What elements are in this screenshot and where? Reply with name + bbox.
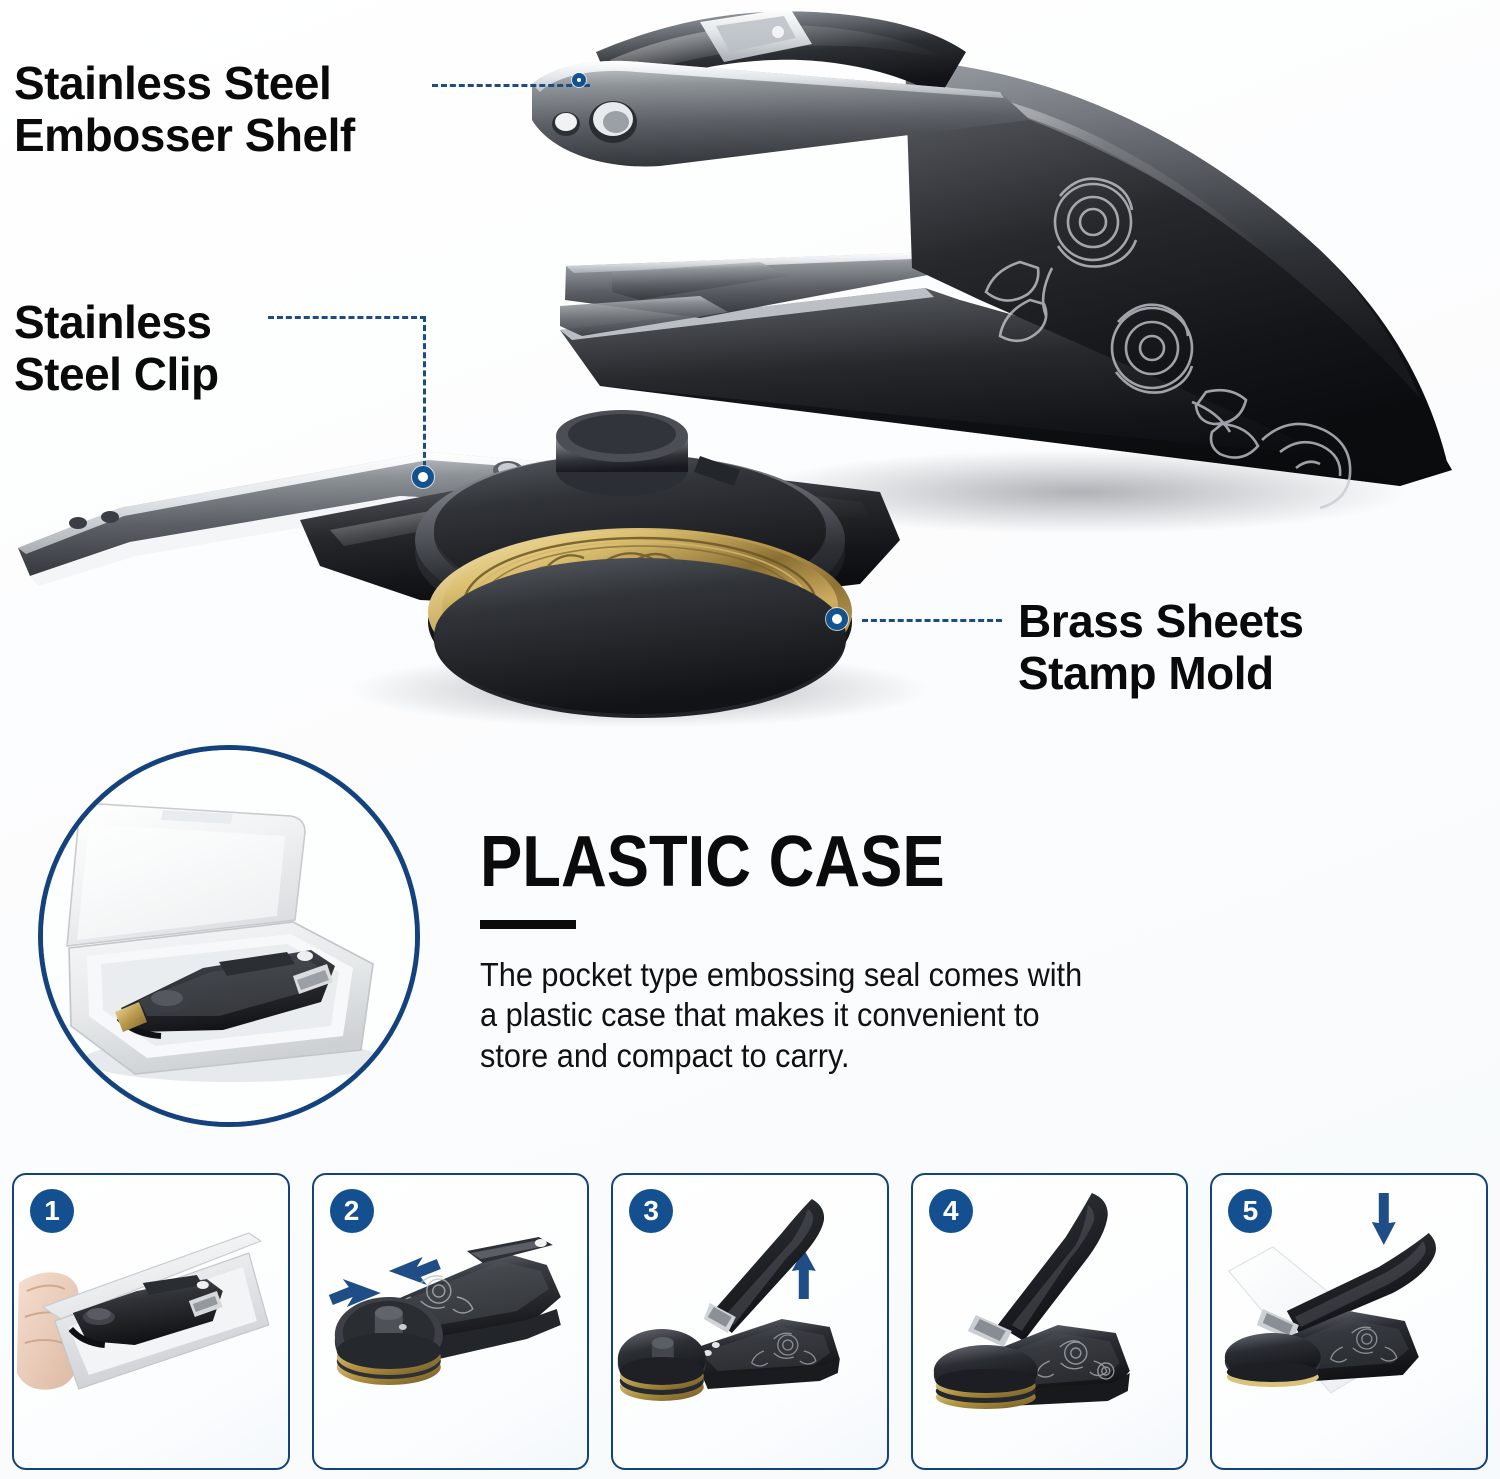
step-badge-4: 4 — [929, 1189, 973, 1233]
step-panel-2[interactable]: 2 — [312, 1173, 590, 1470]
arrow-down-icon — [1372, 1193, 1396, 1245]
instruction-steps-row: 1 — [12, 1173, 1488, 1470]
plastic-case-text-block: PLASTIC CASE The pocket type embossing s… — [480, 826, 1280, 1076]
step-badge-1: 1 — [30, 1189, 74, 1233]
leader-line-shelf — [432, 84, 590, 87]
callout-label-stainless-steel-clip: Stainless Steel Clip — [14, 297, 219, 400]
leader-dot-brass — [826, 608, 848, 630]
leader-dot-clip — [412, 466, 434, 488]
step-panel-5[interactable]: 5 — [1210, 1173, 1488, 1470]
plastic-case-title: PLASTIC CASE — [480, 826, 1184, 898]
leader-line-clip-horizontal — [268, 316, 426, 319]
leader-line-brass — [862, 619, 1002, 622]
plastic-case-photo — [38, 745, 420, 1127]
leader-line-clip-vertical — [423, 316, 426, 476]
plastic-case-description: The pocket type embossing seal comes wit… — [480, 955, 1224, 1076]
leader-dot-shelf — [572, 73, 586, 87]
plastic-case-illustration — [43, 750, 417, 1124]
step-panel-1[interactable]: 1 — [12, 1173, 290, 1470]
title-underline-rule — [480, 920, 576, 929]
callout-label-brass-sheets-stamp-mold: Brass Sheets Stamp Mold — [1018, 596, 1304, 699]
callout-label-stainless-steel-embosser-shelf: Stainless Steel Embosser Shelf — [14, 58, 355, 161]
product-infographic: Leslie Blow Read to Enrich LIBRARY OF St… — [0, 0, 1500, 1479]
step-badge-3: 3 — [629, 1189, 673, 1233]
step-panel-3[interactable]: 3 — [611, 1173, 889, 1470]
step-badge-2: 2 — [330, 1189, 374, 1233]
step-panel-4[interactable]: 4 — [911, 1173, 1189, 1470]
